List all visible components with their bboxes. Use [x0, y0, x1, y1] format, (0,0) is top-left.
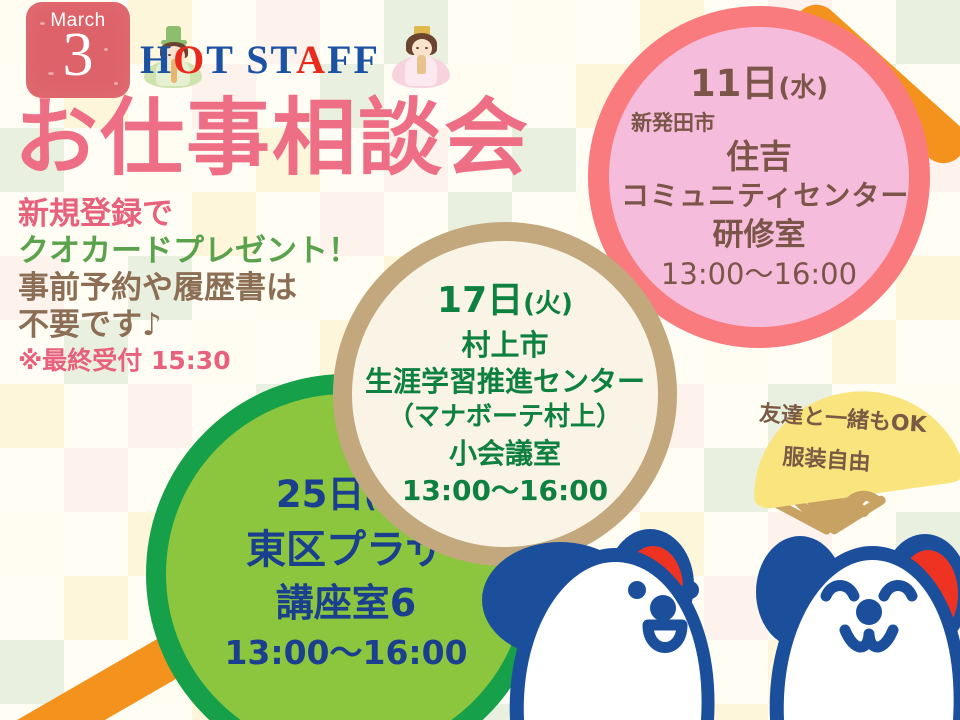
- event-25-room: 講座室6: [180, 577, 511, 629]
- brand-o: O: [173, 37, 206, 82]
- event-25-time: 13:00〜16:00: [180, 629, 511, 677]
- brand-logo: HOT STAFF: [140, 30, 380, 90]
- badge-day-number: 3: [26, 24, 130, 86]
- march-date-badge: March 3: [26, 2, 130, 98]
- hina-doll-female-icon: [390, 26, 452, 88]
- event-17-venue-detail: （マナボーテ村上）: [364, 400, 646, 435]
- promo-line-4: 不要です♪: [18, 307, 359, 344]
- brand-a: A: [296, 37, 327, 82]
- promo-line-3: 事前予約や履歴書は: [18, 270, 359, 307]
- event-11-day: 11日(水): [621, 62, 897, 110]
- event-11-room: 研修室: [621, 215, 897, 255]
- event-17-day: 17日(火): [364, 278, 646, 327]
- event-17-city: 村上市: [364, 327, 646, 364]
- promo-text-block: 新規登録で クオカードプレゼント！ 事前予約や履歴書は 不要です♪ ※最終受付 …: [18, 196, 359, 378]
- fan-line-1: 友達と一緒もOK: [758, 395, 928, 439]
- brand-name-text: HOT STAFF: [140, 40, 380, 80]
- event-circle-17[interactable]: 17日(火) 村上市 生涯学習推進センター （マナボーテ村上） 小会議室 13:…: [333, 222, 677, 566]
- promo-line-1: 新規登録で: [18, 196, 359, 233]
- event-11-time: 13:00〜16:00: [621, 255, 897, 293]
- event-11-city: 新発田市: [621, 110, 897, 136]
- poster-root: 11日(水) 新発田市 住吉 コミュニティセンター 研修室 13:00〜16:0…: [0, 0, 960, 720]
- fan-badge: 友達と一緒もOK 服装自由: [746, 378, 960, 548]
- fan-badge-text: 友達と一緒もOK 服装自由: [739, 364, 960, 511]
- brand-ff: FF: [327, 37, 380, 82]
- event-17-venue: 生涯学習推進センター: [364, 364, 646, 400]
- page-title: お仕事相談会: [14, 96, 530, 180]
- brand-h: H: [140, 37, 173, 82]
- event-11-venue: 住吉: [621, 136, 897, 177]
- promo-line-2: クオカードプレゼント！: [18, 233, 359, 270]
- fan-line-2: 服装自由: [782, 439, 872, 477]
- event-11-venue-detail: コミュニティセンター: [621, 177, 897, 215]
- brand-tst: T ST: [206, 37, 296, 82]
- event-17-room: 小会議室: [364, 435, 646, 472]
- promo-last-reception: ※最終受付 15:30: [18, 344, 359, 378]
- event-17-time: 13:00〜16:00: [364, 472, 646, 510]
